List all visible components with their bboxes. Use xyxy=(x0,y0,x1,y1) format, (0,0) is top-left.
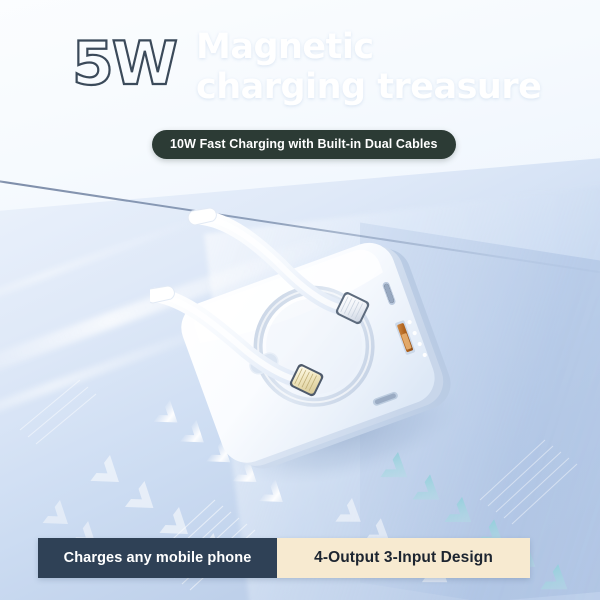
headline-line-2: charging treasure xyxy=(196,68,596,108)
bottom-banner: Charges any mobile phone 4-Output 3-Inpu… xyxy=(38,538,530,578)
headline-line-1: Magnetic xyxy=(196,28,596,68)
wattage-badge: 5W xyxy=(72,34,176,94)
banner-left-label: Charges any mobile phone xyxy=(38,538,277,578)
page-title: Magnetic charging treasure xyxy=(196,28,596,108)
header-block: 5W Magnetic charging treasure 10W Fast C… xyxy=(0,0,600,180)
banner-right-label: 4-Output 3-Input Design xyxy=(277,538,530,578)
feature-pill-badge: 10W Fast Charging with Built-in Dual Cab… xyxy=(152,130,456,159)
product-image-magnetic-power-bank xyxy=(150,195,460,485)
product-poster: 5W Magnetic charging treasure 10W Fast C… xyxy=(0,0,600,600)
